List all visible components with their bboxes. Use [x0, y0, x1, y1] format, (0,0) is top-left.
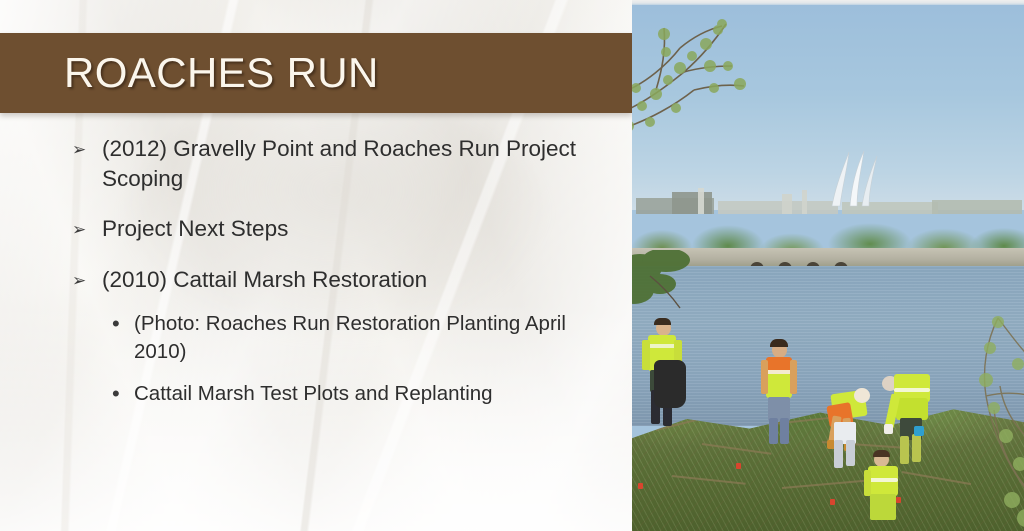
sub-list-item-label: (Photo: Roaches Run Restoration Planting…: [134, 310, 604, 366]
list-item[interactable]: ➢ Project Next Steps: [0, 214, 620, 245]
arrow-bullet-icon: ➢: [72, 134, 102, 165]
marker-flag: [736, 463, 741, 469]
slide-photo: [632, 0, 1024, 531]
dot-bullet-icon: •: [112, 310, 134, 338]
marker-flag: [830, 499, 835, 505]
list-item[interactable]: ➢ (2010) Cattail Marsh Restoration: [0, 265, 620, 296]
volunteer-worker: [758, 342, 804, 452]
sub-list-item-label: Cattail Marsh Test Plots and Replanting: [134, 380, 604, 408]
dot-bullet-icon: •: [112, 380, 134, 408]
sub-list-item[interactable]: • (Photo: Roaches Run Restoration Planti…: [0, 310, 620, 366]
volunteer-worker: [638, 320, 698, 450]
volunteer-worker: [862, 452, 910, 531]
sub-bullet-list: • (Photo: Roaches Run Restoration Planti…: [0, 310, 620, 408]
list-item-label: Project Next Steps: [102, 214, 602, 244]
photo-top-edge: [632, 0, 1024, 5]
trash-bag: [654, 360, 686, 408]
presentation-slide: ROACHES RUN ➢ (2012) Gravelly Point and …: [0, 0, 1024, 531]
air-force-memorial-icon: [828, 150, 888, 208]
photo-foreground-tree: [632, 0, 772, 144]
arrow-bullet-icon: ➢: [72, 214, 102, 245]
list-item-label: (2010) Cattail Marsh Restoration: [102, 265, 602, 295]
marker-flag: [638, 483, 643, 489]
list-item-label: (2012) Gravelly Point and Roaches Run Pr…: [102, 134, 602, 194]
bullet-list: ➢ (2012) Gravelly Point and Roaches Run …: [0, 134, 620, 422]
sub-list-item[interactable]: • Cattail Marsh Test Plots and Replantin…: [0, 380, 620, 408]
title-band: ROACHES RUN: [0, 33, 632, 113]
page-title: ROACHES RUN: [64, 52, 379, 94]
list-item[interactable]: ➢ (2012) Gravelly Point and Roaches Run …: [0, 134, 620, 194]
arrow-bullet-icon: ➢: [72, 265, 102, 296]
